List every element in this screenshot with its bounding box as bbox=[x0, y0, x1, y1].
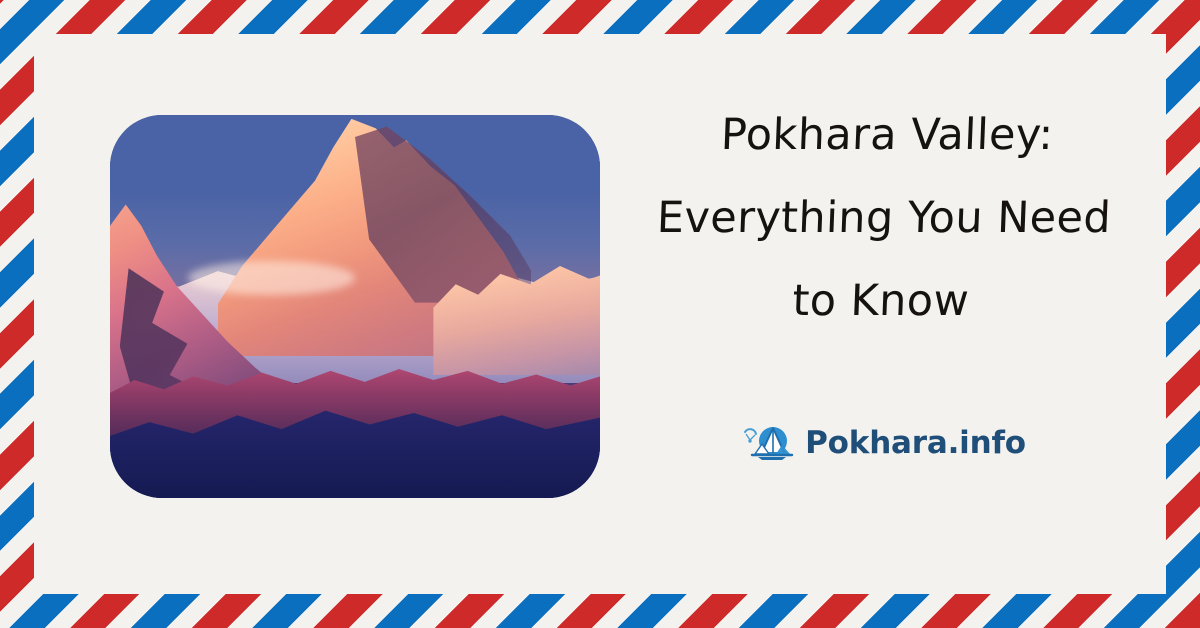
banner-content: Pokhara Valley: Everything You Need to K… bbox=[34, 34, 1166, 594]
title-line-3: to Know bbox=[629, 260, 1132, 343]
banner: Pokhara Valley: Everything You Need to K… bbox=[0, 0, 1200, 628]
site-logo[interactable]: Pokhara.info bbox=[634, 423, 1134, 463]
logo-wordmark: Pokhara.info bbox=[805, 425, 1026, 461]
photo-sky bbox=[110, 115, 600, 498]
page-title: Pokhara Valley: Everything You Need to K… bbox=[629, 94, 1139, 343]
pokhara-mountain-sun-boat-icon bbox=[742, 423, 796, 463]
mountain-photo bbox=[110, 115, 600, 498]
title-line-2: Everything You Need bbox=[632, 177, 1135, 260]
title-line-1: Pokhara Valley: bbox=[636, 94, 1139, 177]
photo-cloud bbox=[188, 261, 355, 295]
headline-block: Pokhara Valley: Everything You Need to K… bbox=[634, 94, 1134, 343]
